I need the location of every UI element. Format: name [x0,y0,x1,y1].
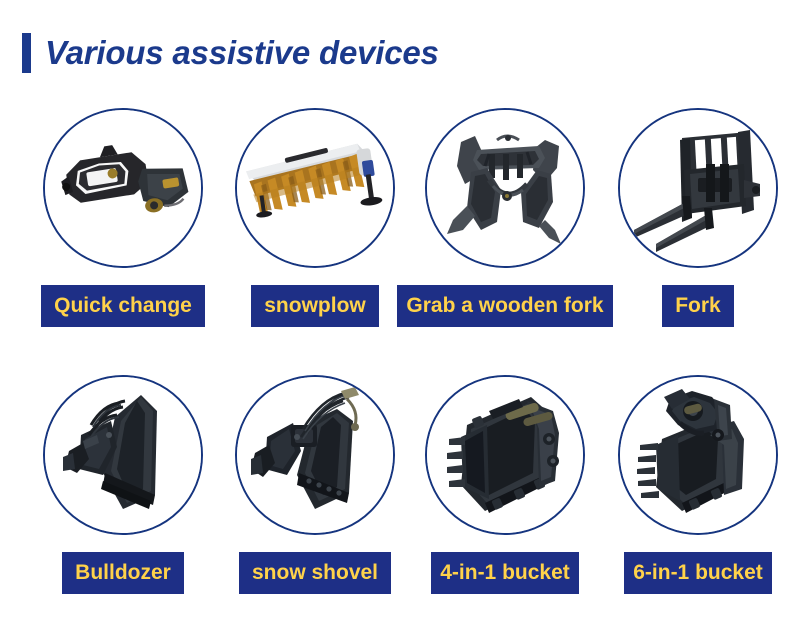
device-card-6-in-1-bucket[interactable]: 6-in-1 bucket [603,375,793,605]
label-wrap: Quick change [28,285,218,327]
label-wrap: 4-in-1 bucket [410,552,600,594]
dozer-blade-photo [43,375,203,535]
label-wrap: Fork [603,285,793,327]
quick-change-coupler-photo [43,108,203,268]
device-label-4-in-1-bucket[interactable]: 4-in-1 bucket [431,552,579,594]
title-accent-bar [22,33,31,73]
device-card-bulldozer[interactable]: Bulldozer [28,375,218,605]
device-label-bulldozer[interactable]: Bulldozer [62,552,184,594]
device-card-4-in-1-bucket[interactable]: 4-in-1 bucket [410,375,600,605]
device-label-grab-a-wooden-fork[interactable]: Grab a wooden fork [397,285,612,327]
label-wrap: Grab a wooden fork [410,285,600,327]
log-grapple-fork-photo [425,108,585,268]
device-card-grab-a-wooden-fork[interactable]: Grab a wooden fork [410,108,600,338]
snow-shovel-blade-photo [235,375,395,535]
device-label-snow-shovel[interactable]: snow shovel [239,552,391,594]
label-wrap: snowplow [220,285,410,327]
device-label-fork[interactable]: Fork [662,285,734,327]
label-wrap: 6-in-1 bucket [603,552,793,594]
device-card-quick-change[interactable]: Quick change [28,108,218,338]
device-row-1: Quick change [0,108,800,338]
page-header: Various assistive devices [0,0,800,105]
device-label-quick-change[interactable]: Quick change [41,285,205,327]
four-in-one-bucket-photo [425,375,585,535]
page-title: Various assistive devices [45,36,439,69]
six-in-one-bucket-photo [618,375,778,535]
label-wrap: Bulldozer [28,552,218,594]
snowplow-rotary-broom-photo [235,108,395,268]
device-card-snowplow[interactable]: snowplow [220,108,410,338]
device-card-fork[interactable]: Fork [603,108,793,338]
device-label-6-in-1-bucket[interactable]: 6-in-1 bucket [624,552,772,594]
device-label-snowplow[interactable]: snowplow [251,285,379,327]
device-card-snow-shovel[interactable]: snow shovel [220,375,410,605]
label-wrap: snow shovel [220,552,410,594]
pallet-fork-photo [618,108,778,268]
device-row-2: Bulldozer [0,375,800,605]
